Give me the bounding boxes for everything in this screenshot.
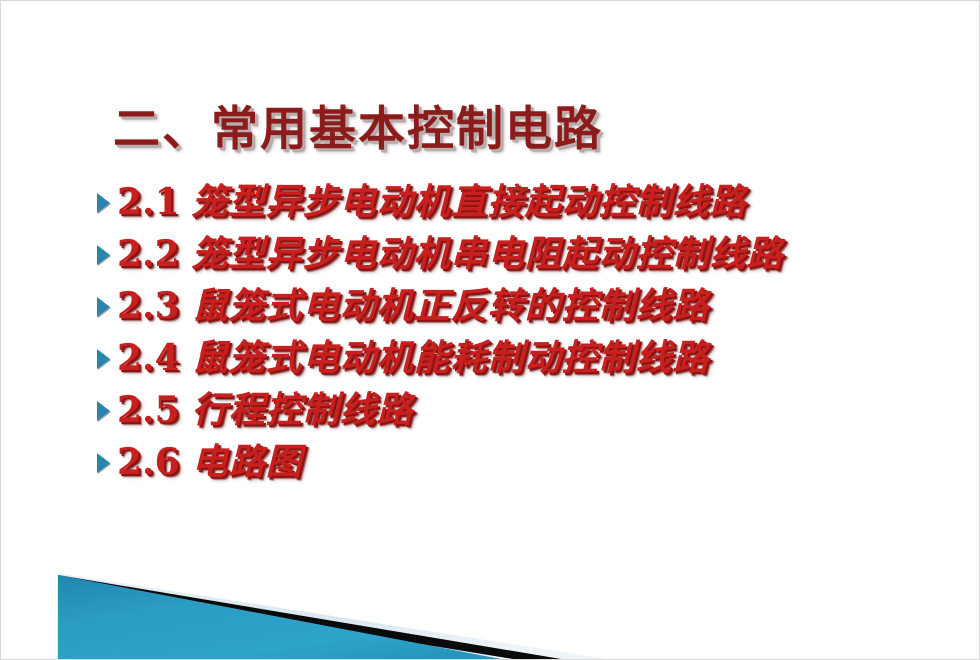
- list-item-number: 2.6: [117, 441, 192, 483]
- list-item-number: 2.2: [117, 233, 192, 275]
- list-item-label: 行程控制线路: [192, 390, 414, 431]
- list-item-content: 2.4鼠笼式电动机能耗制动控制线路: [117, 335, 927, 382]
- list-item-content: 2.1笼型异步电动机直接起动控制线路: [117, 179, 927, 226]
- decoration-light-band: [57, 573, 601, 659]
- list-item-label: 鼠笼式电动机正反转的控制线路: [192, 286, 710, 327]
- list-item[interactable]: 2.4鼠笼式电动机能耗制动控制线路: [97, 335, 927, 387]
- list-item[interactable]: 2.5行程控制线路: [97, 387, 927, 439]
- list-item-number: 2.1: [117, 181, 192, 223]
- list-item-label: 电路图: [192, 442, 303, 483]
- list-item-label: 笼型异步电动机串电阻起动控制线路: [192, 234, 784, 275]
- list-item-content: 2.6电路图: [117, 439, 927, 486]
- agenda-list: 2.1笼型异步电动机直接起动控制线路 2.2笼型异步电动机串电阻起动控制线路 2…: [97, 179, 927, 491]
- list-item[interactable]: 2.3鼠笼式电动机正反转的控制线路: [97, 283, 927, 335]
- triangle-right-icon: [97, 297, 110, 317]
- triangle-right-icon: [97, 245, 110, 265]
- list-item-number: 2.4: [117, 337, 192, 379]
- list-item-content: 2.5行程控制线路: [117, 387, 927, 434]
- list-item-number: 2.3: [117, 285, 192, 327]
- list-item-content: 2.3鼠笼式电动机正反转的控制线路: [117, 283, 927, 330]
- decoration-teal-triangle: [58, 575, 501, 659]
- triangle-right-icon: [97, 349, 110, 369]
- triangle-right-icon: [97, 453, 110, 473]
- decoration-black-stripe: [58, 575, 561, 659]
- list-item[interactable]: 2.6电路图: [97, 439, 927, 491]
- list-item-number: 2.5: [117, 389, 192, 431]
- triangle-right-icon: [97, 193, 110, 213]
- list-item[interactable]: 2.1笼型异步电动机直接起动控制线路: [97, 179, 927, 231]
- list-item-content: 2.2笼型异步电动机串电阻起动控制线路: [117, 231, 927, 278]
- list-item-label: 笼型异步电动机直接起动控制线路: [192, 182, 747, 223]
- presentation-slide: 二、常用基本控制电路 2.1笼型异步电动机直接起动控制线路 2.2笼型异步电动机…: [0, 0, 980, 660]
- triangle-right-icon: [97, 401, 110, 421]
- corner-decoration-graphic: [1, 529, 601, 659]
- page-title: 二、常用基本控制电路: [113, 90, 603, 159]
- list-item-label: 鼠笼式电动机能耗制动控制线路: [192, 338, 710, 379]
- list-item[interactable]: 2.2笼型异步电动机串电阻起动控制线路: [97, 231, 927, 283]
